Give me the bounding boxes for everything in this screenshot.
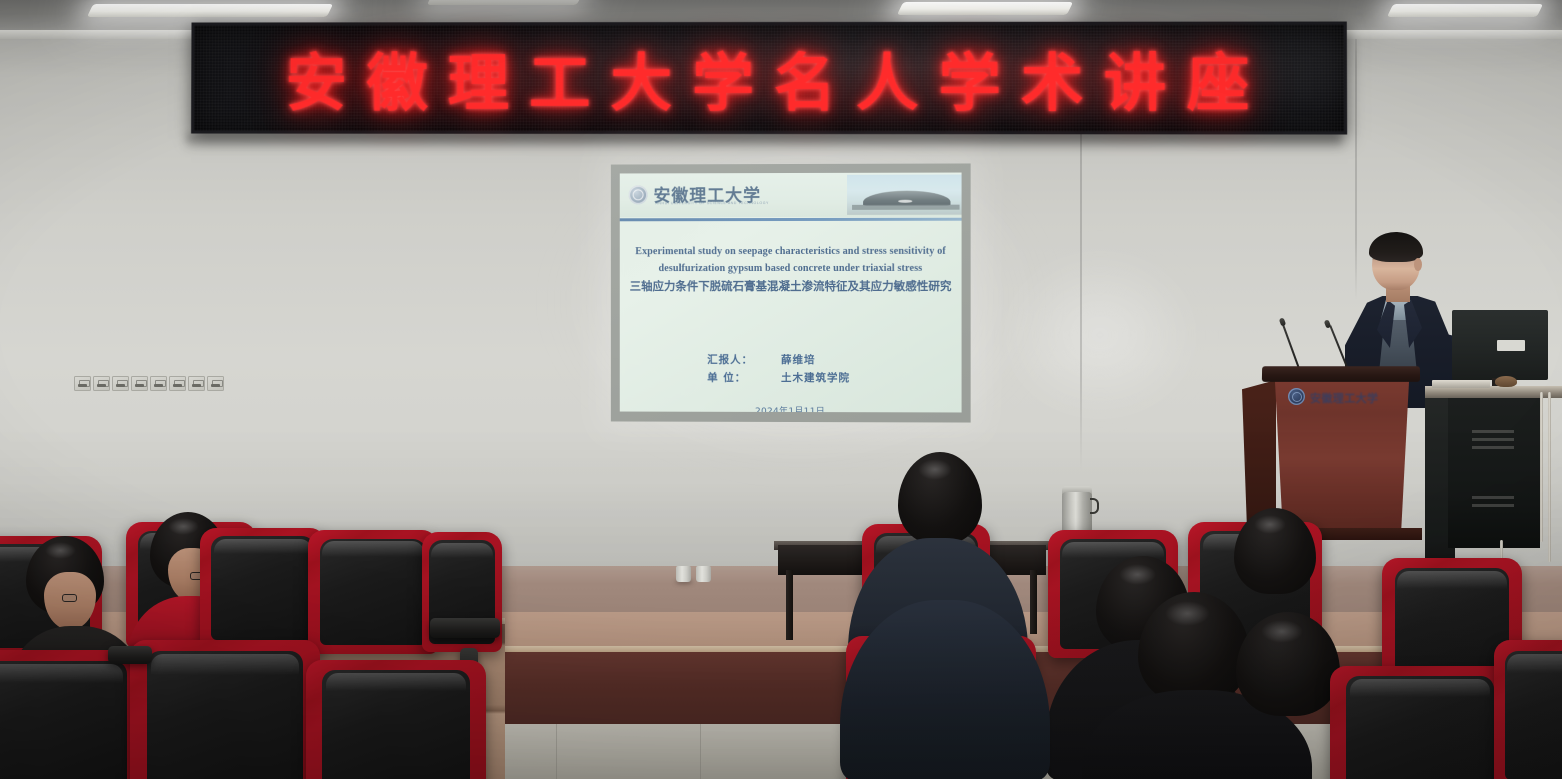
wall-socket[interactable]: [207, 376, 224, 391]
hair-sheen: [168, 518, 198, 535]
seat-gloss: [0, 664, 123, 684]
glasses-icon: [62, 594, 77, 602]
slide-title-cn: 三轴应力条件下脱硫石膏基混凝土渗流特征及其应力敏感性研究: [630, 278, 952, 295]
seat-gloss: [1507, 654, 1562, 674]
audience-head: [898, 452, 982, 544]
floor-tile-line: [556, 724, 557, 779]
seat-gloss: [214, 539, 312, 555]
wall-socket[interactable]: [150, 376, 167, 391]
rack-vent: [1472, 430, 1514, 433]
hair-sheen: [1261, 620, 1303, 643]
audience-head: [1236, 612, 1340, 716]
banner-shadow: [186, 134, 1342, 150]
affiliation-label: 单 位：: [707, 369, 781, 387]
seat-gloss: [431, 543, 493, 559]
seat-gloss: [322, 541, 423, 557]
slide-title-block: Experimental study on seepage characteri…: [630, 243, 952, 295]
rack-vent: [1472, 504, 1514, 507]
table-leg: [1030, 570, 1037, 634]
ceiling-light: [87, 4, 333, 17]
wall-socket[interactable]: [169, 376, 186, 391]
paper-cup: [696, 566, 711, 582]
cable: [1540, 392, 1543, 542]
wall-seam: [1355, 0, 1357, 300]
hair-sheen: [1165, 601, 1210, 626]
paper-cup: [676, 566, 691, 582]
seat-gloss: [326, 673, 466, 691]
monitor-label-sticker: [1497, 340, 1525, 351]
auditorium-seat[interactable]: [308, 530, 438, 654]
lectern-top-surface[interactable]: [1262, 366, 1420, 382]
auditorium-seat[interactable]: [1330, 666, 1510, 779]
audience-head: [1138, 592, 1250, 704]
auditorium-seat[interactable]: [306, 660, 486, 779]
presenter-row: 汇报人： 薛维培: [620, 351, 962, 370]
keyboard[interactable]: [1432, 380, 1490, 388]
slide-date: 2024年1月11日: [620, 404, 962, 413]
auditorium-seat[interactable]: [130, 640, 320, 779]
speaker-ear: [1414, 258, 1422, 271]
dome-base: [852, 205, 960, 210]
campus-dome-building-photo: [847, 175, 962, 215]
cable: [1548, 392, 1551, 562]
slide-title-en-line1: Experimental study on seepage characteri…: [635, 246, 934, 257]
projection-screen: 安徽理工大学 ANHUI UNIVERSITY OF SCIENCE AND T…: [611, 163, 971, 422]
seat-gloss: [151, 654, 299, 675]
auditorium-seat[interactable]: [1494, 640, 1562, 779]
hair-sheen: [918, 459, 952, 479]
slide-meta-block: 汇报人： 薛维培 单 位： 土木建筑学院: [620, 351, 962, 388]
slide-university-name-en: ANHUI UNIVERSITY OF SCIENCE AND TECHNOLO…: [656, 201, 769, 205]
wall-socket[interactable]: [112, 376, 129, 391]
wall-socket[interactable]: [93, 376, 110, 391]
lecture-hall-photo: 安徽理工大学名人学术讲座 安徽理工大学 ANHUI UNIVERSITY OF …: [0, 0, 1562, 779]
wall-socket[interactable]: [74, 376, 91, 391]
ceiling-light: [427, 0, 583, 5]
dome-highlight: [899, 200, 913, 203]
affiliation-row: 单 位： 土木建筑学院: [620, 369, 962, 388]
mouse[interactable]: [1495, 376, 1517, 387]
presenter-name: 薛维培: [781, 351, 873, 369]
floor-tile-line: [700, 724, 701, 779]
led-banner-text: 安徽理工大学名人学术讲座: [194, 33, 1344, 124]
dome-shape: [863, 191, 950, 206]
university-seal-icon: [629, 185, 648, 204]
affiliation-name: 土木建筑学院: [781, 369, 873, 387]
av-equipment-rack: [1448, 398, 1540, 548]
hair-sheen: [1254, 515, 1287, 534]
wall-socket[interactable]: [131, 376, 148, 391]
title-slide: 安徽理工大学 ANHUI UNIVERSITY OF SCIENCE AND T…: [620, 173, 962, 413]
table-leg: [786, 570, 793, 640]
presenter-label: 汇报人：: [707, 351, 781, 369]
wall-socket[interactable]: [188, 376, 205, 391]
university-seal-icon: [1288, 388, 1305, 405]
led-banner: 安徽理工大学名人学术讲座: [191, 22, 1347, 135]
rack-vent: [1472, 446, 1514, 449]
rack-vent: [1472, 438, 1514, 441]
seat-gloss: [1397, 571, 1506, 589]
wall-light-reflection: [1000, 250, 1200, 420]
wall-socket-row: [74, 376, 224, 391]
screen-frame: 安徽理工大学 ANHUI UNIVERSITY OF SCIENCE AND T…: [611, 163, 971, 422]
ceiling-light: [1387, 4, 1543, 17]
seat-gloss: [1350, 679, 1490, 697]
slide-body: Experimental study on seepage characteri…: [620, 221, 962, 413]
audience-head: [1234, 508, 1316, 594]
lectern-university-text: 安徽理工大学: [1310, 390, 1410, 406]
rack-vent: [1472, 496, 1514, 499]
ceiling-light: [897, 2, 1073, 15]
seat-armrest: [108, 646, 152, 664]
thermos-handle: [1090, 498, 1099, 514]
auditorium-seat[interactable]: [0, 650, 144, 779]
hair-sheen: [1119, 564, 1157, 585]
seat-armrest: [430, 618, 500, 638]
slide-header: 安徽理工大学 ANHUI UNIVERSITY OF SCIENCE AND T…: [620, 173, 962, 218]
